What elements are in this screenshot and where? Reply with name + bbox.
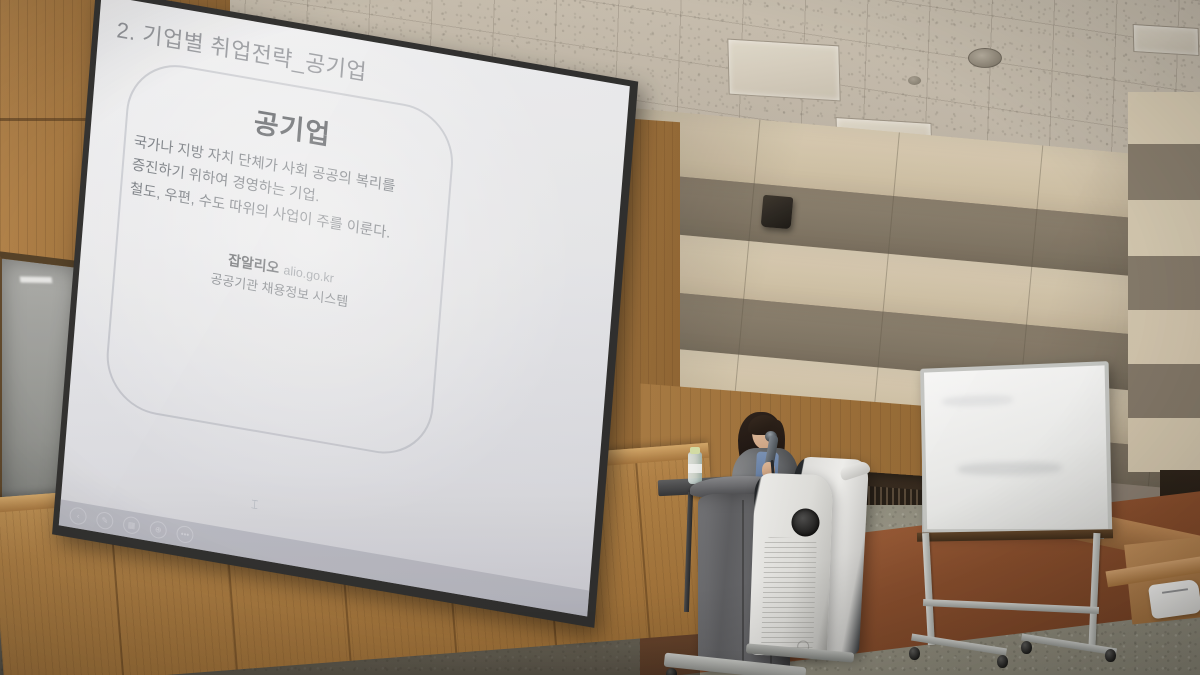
slide-overview-button[interactable]: ▦ <box>122 515 140 535</box>
whiteboard-caster <box>1021 641 1032 654</box>
lecture-hall-scene: 2. 기업별 취업전략_공기업 공기업 국가나 지방 자치 단체가 사회 공공의… <box>0 0 1200 675</box>
whiteboard-caster <box>997 655 1008 668</box>
whiteboard-smudge-top <box>942 395 1013 407</box>
water-bottle-cap <box>690 447 700 454</box>
whiteboard-leg-right <box>1089 533 1101 645</box>
whiteboard-foot-right <box>1021 634 1117 656</box>
podium-caster <box>666 668 677 675</box>
previous-slide-button[interactable]: ‹ <box>69 506 87 526</box>
white-bag-on-floor <box>1148 579 1200 620</box>
air-vent-corner-icon <box>1133 24 1200 56</box>
right-wall-corner <box>1128 92 1200 472</box>
more-options-button[interactable]: ••• <box>176 524 194 544</box>
air-purifier[interactable] <box>752 458 862 658</box>
projection-screen-surface[interactable]: 2. 기업별 취업전략_공기업 공기업 국가나 지방 자치 단체가 사회 공공의… <box>59 0 630 617</box>
mobile-whiteboard[interactable] <box>905 355 1119 665</box>
whiteboard-leg-left <box>922 533 935 645</box>
pen-annotation-button[interactable]: ✎ <box>96 510 114 530</box>
air-purifier-vent-ribs <box>761 537 817 651</box>
air-purifier-front-panel <box>749 473 833 658</box>
text-cursor-icon: ⌶ <box>250 497 258 513</box>
air-vent-large-icon <box>727 39 840 102</box>
ceiling-diffuser-icon <box>968 48 1002 68</box>
whiteboard-smudge <box>957 461 1062 476</box>
whiteboard-surface[interactable] <box>920 361 1112 533</box>
whiteboard-foot-left <box>911 634 1007 656</box>
air-purifier-intake-icon <box>791 508 820 537</box>
wall-speaker-icon <box>761 195 794 229</box>
whiteboard-crossbar <box>923 599 1099 614</box>
whiteboard-caster <box>909 647 920 660</box>
blackboard-glare <box>20 276 52 283</box>
zoom-button[interactable]: ⊕ <box>149 519 167 539</box>
smoke-detector-icon <box>908 76 921 85</box>
projected-slide: 2. 기업별 취업전략_공기업 공기업 국가나 지방 자치 단체가 사회 공공의… <box>59 0 630 617</box>
whiteboard-caster <box>1105 649 1116 662</box>
projection-screen[interactable]: 2. 기업별 취업전략_공기업 공기업 국가나 지방 자치 단체가 사회 공공의… <box>52 0 638 628</box>
water-bottle-label <box>688 464 702 473</box>
